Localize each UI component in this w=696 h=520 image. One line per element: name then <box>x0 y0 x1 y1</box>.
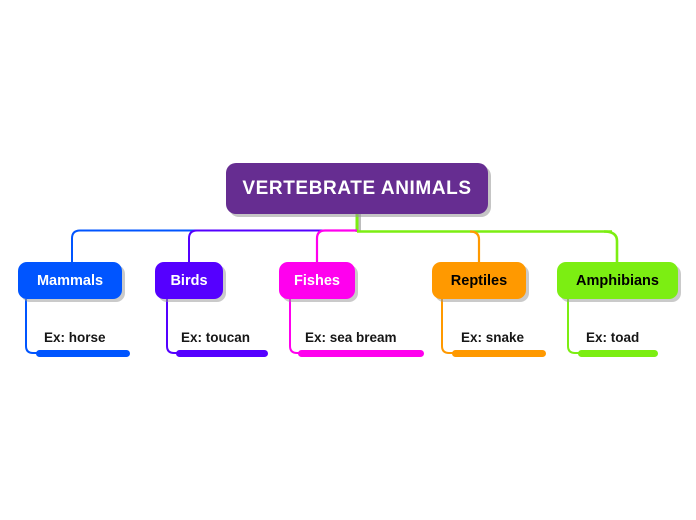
connector-example-amphibians <box>568 299 586 353</box>
connector-amphibians <box>604 232 617 263</box>
connector-lines <box>0 0 696 520</box>
example-bar-fishes <box>298 350 424 357</box>
example-label-fishes: Ex: sea bream <box>305 330 397 345</box>
connector-birds <box>189 231 357 263</box>
category-node-label-birds: Birds <box>170 273 207 289</box>
example-label-mammals: Ex: horse <box>44 330 106 345</box>
category-node-label-fishes: Fishes <box>294 273 340 289</box>
connector-example-reptiles <box>442 299 460 353</box>
connector-reptiles <box>470 232 479 263</box>
root-node-label: VERTEBRATE ANIMALS <box>242 178 471 200</box>
example-bar-birds <box>176 350 268 357</box>
example-bar-reptiles <box>452 350 546 357</box>
example-label-reptiles: Ex: snake <box>461 330 524 345</box>
category-node-reptiles[interactable]: Reptiles <box>432 262 526 299</box>
connector-fishes <box>317 231 357 263</box>
category-node-label-reptiles: Reptiles <box>451 273 507 289</box>
connector-example-mammals <box>26 299 44 353</box>
example-label-amphibians: Ex: toad <box>586 330 639 345</box>
category-node-label-amphibians: Amphibians <box>576 273 659 289</box>
root-node-vertebrate-animals[interactable]: VERTEBRATE ANIMALS <box>226 163 488 214</box>
category-node-mammals[interactable]: Mammals <box>18 262 122 299</box>
category-node-amphibians[interactable]: Amphibians <box>557 262 678 299</box>
example-label-birds: Ex: toucan <box>181 330 250 345</box>
example-bar-mammals <box>36 350 130 357</box>
example-bar-amphibians <box>578 350 658 357</box>
category-node-birds[interactable]: Birds <box>155 262 223 299</box>
mindmap-canvas: VERTEBRATE ANIMALS Mammals Ex: horse Bir… <box>0 0 696 520</box>
category-node-fishes[interactable]: Fishes <box>279 262 355 299</box>
category-node-label-mammals: Mammals <box>37 273 103 289</box>
connector-mammals <box>72 231 357 263</box>
